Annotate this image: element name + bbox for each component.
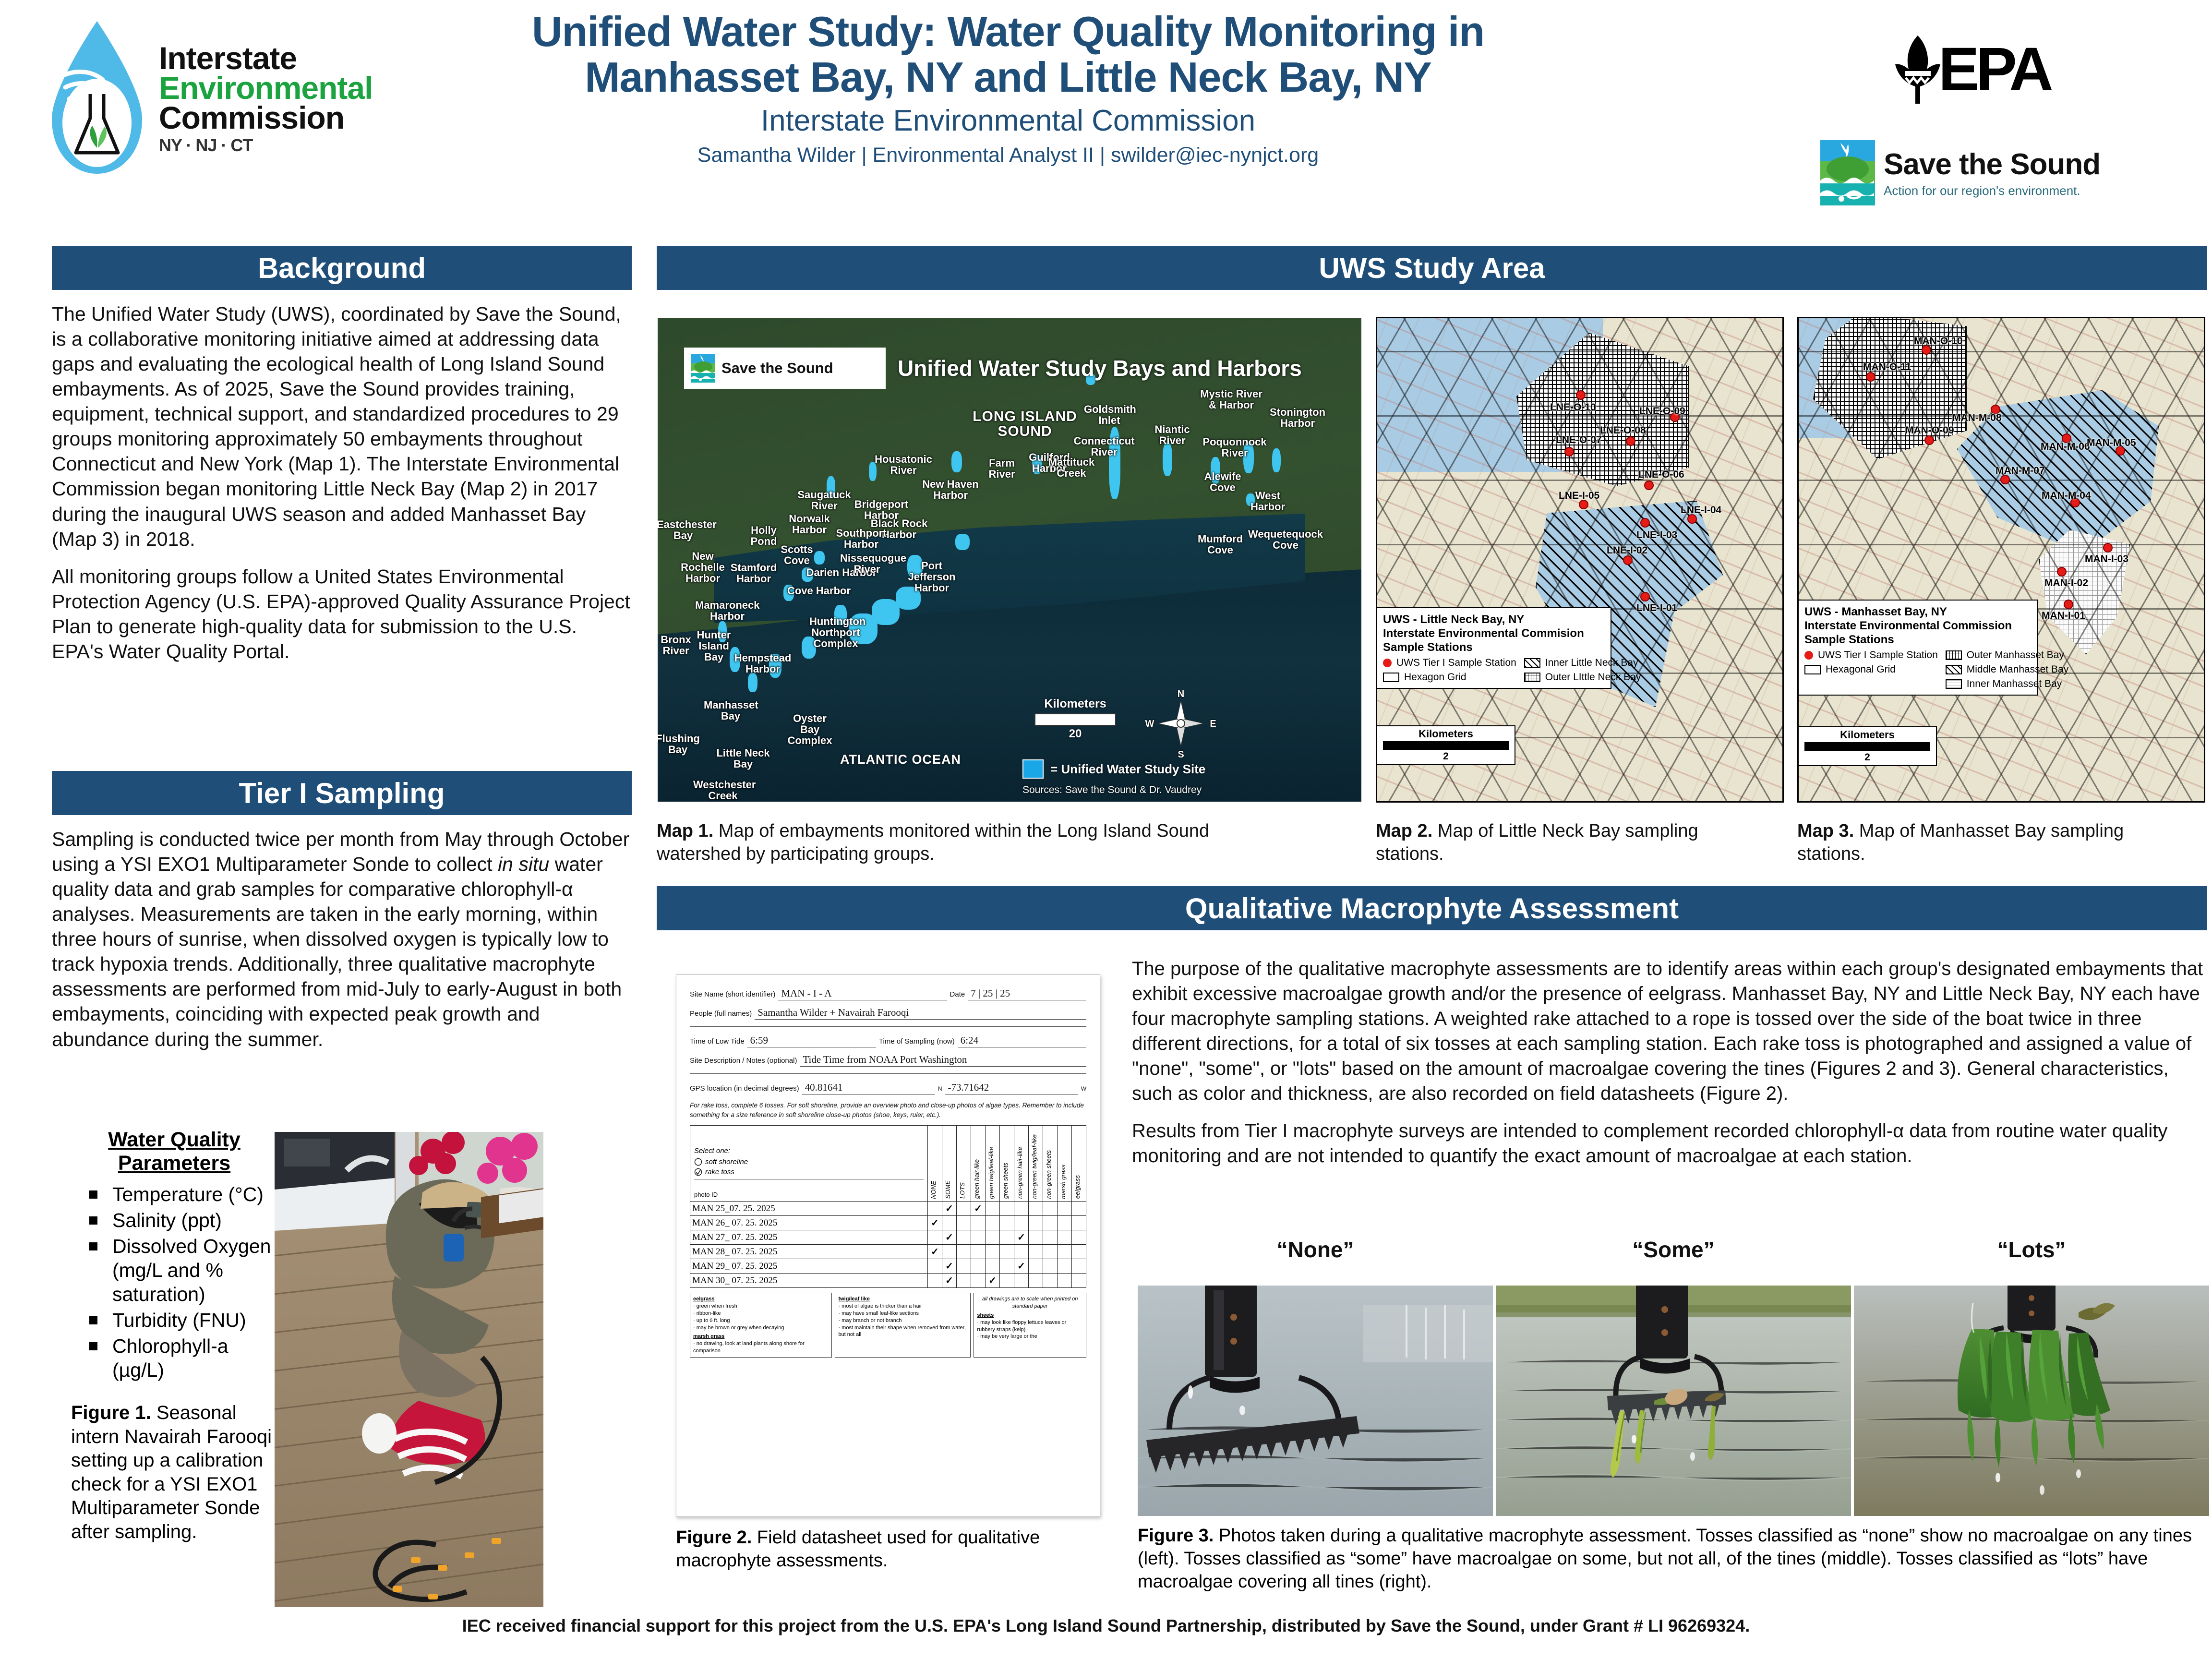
ds-photo-id: MAN 25_07. 25. 2025 — [690, 1202, 928, 1216]
ds-guide-twig-items: · most of algae is thicker than a hair ·… — [838, 1303, 967, 1338]
ds-check-cell[interactable] — [971, 1216, 986, 1230]
map3-station-dot — [2057, 567, 2067, 577]
map2-scale-title: Kilometers — [1377, 728, 1515, 740]
map1-label: Mumford Cove — [1191, 534, 1249, 556]
list-item: Temperature (°C) — [71, 1182, 277, 1206]
map2-station-dot — [1576, 390, 1586, 400]
ds-gps-label: GPS location (in decimal degrees) — [690, 1084, 799, 1093]
checkmark-icon: ✓ — [945, 1203, 953, 1214]
poster-root: Interstate Environmental Commission NY ·… — [0, 0, 2212, 1659]
ds-check-cell[interactable] — [1000, 1259, 1014, 1274]
map3-station-label: MAN-M-08 — [1952, 412, 2002, 424]
map3-legend-title-2: Interstate Environmental Commission — [1804, 619, 2031, 633]
ds-col-green-sheets: green sheets — [1000, 1126, 1014, 1202]
ds-col-green-twig: green twig/leaf-like — [986, 1126, 1000, 1202]
map3-station-label: MAN-M-07 — [1996, 465, 2045, 477]
ds-photo-id: MAN 26_ 07. 25. 2025 — [690, 1216, 928, 1230]
map3-legend: UWS - Manhasset Bay, NY Interstate Envir… — [1798, 600, 2038, 696]
map2-station-dot — [1644, 481, 1654, 490]
ds-check-cell[interactable] — [971, 1245, 986, 1259]
ds-instructions: For rake toss, complete 6 tosses. For so… — [690, 1101, 1086, 1119]
epa-logo-text: EPA — [1938, 39, 2050, 100]
radio-unchecked-icon[interactable] — [694, 1158, 702, 1166]
ds-check-cell[interactable] — [1029, 1245, 1043, 1259]
map2-station-dot — [1640, 592, 1650, 601]
list-item: Dissolved Oxygen (mg/L and % saturation) — [71, 1234, 277, 1306]
figure2-caption: Figure 2. Field datasheet used for quali… — [676, 1527, 1060, 1573]
map1-site-marker — [748, 673, 757, 692]
map3-legend-item: Outer Manhasset Bay — [1967, 649, 2064, 661]
ds-check-cell[interactable] — [986, 1245, 1000, 1259]
ds-check-cell[interactable] — [957, 1202, 971, 1216]
ds-photo-id: MAN 27_ 07. 25. 2025 — [690, 1230, 928, 1245]
map3-legend-middle-key — [1946, 665, 1962, 674]
ds-gps-lon: -73.71642 — [945, 1082, 1078, 1094]
ds-site-desc-value: Tide Time from NOAA Port Washington — [800, 1054, 1086, 1067]
map1-site-marker — [1163, 443, 1172, 476]
map1-banner-logo-text: Save the Sound — [721, 360, 833, 377]
ds-site-desc-label: Site Description / Notes (optional) — [690, 1057, 797, 1065]
ds-check-cell[interactable]: ✓ — [942, 1274, 957, 1288]
map2-legend-inner-key — [1524, 658, 1540, 668]
poster-title-line1: Unified Water Study: Water Quality Monit… — [379, 9, 1637, 54]
ds-low-tide-label: Time of Low Tide — [690, 1037, 745, 1046]
ds-check-cell[interactable] — [1014, 1202, 1029, 1216]
ds-guide-scale-note: all drawings are to scale when printed o… — [977, 1296, 1083, 1310]
map2-legend-item: Hexagon Grid — [1404, 672, 1467, 683]
map2-station-label: LNE-O-07 — [1556, 434, 1602, 446]
ds-check-cell[interactable] — [1043, 1274, 1058, 1288]
ds-observation-table: Select one: soft shoreline rake toss pho… — [690, 1125, 1086, 1288]
ds-check-cell[interactable]: ✓ — [942, 1259, 957, 1274]
map1-label: Housatonic River — [871, 454, 936, 476]
ds-check-cell[interactable] — [957, 1274, 971, 1288]
map2-station-dot — [1640, 518, 1650, 528]
checkmark-icon: ✓ — [1017, 1261, 1025, 1272]
map1-label: New Rochelle Harbor — [669, 551, 736, 584]
ds-check-cell[interactable] — [1029, 1202, 1043, 1216]
title-block: Unified Water Study: Water Quality Monit… — [379, 9, 1637, 167]
ds-check-cell[interactable]: ✓ — [942, 1230, 957, 1245]
map1-label: Mamaroneck Harbor — [695, 600, 759, 622]
ds-guide-twig: twig/leaf like · most of algae is thicke… — [835, 1293, 971, 1358]
map2-scale-rule — [1383, 741, 1509, 750]
ds-check-cell[interactable]: ✓ — [1014, 1259, 1029, 1274]
table-row: MAN 30_ 07. 25. 2025✓✓ — [690, 1274, 1086, 1288]
map3-manhasset-bay: MAN-O-10 MAN-O-11 MAN-O-09 MAN-M-08 MAN-… — [1797, 317, 2205, 803]
ds-divider-2 — [690, 1073, 1086, 1074]
ds-select-one-label: Select one: — [694, 1147, 924, 1155]
ds-check-cell[interactable] — [1029, 1259, 1043, 1274]
map2-scale-bar: Kilometers 2 — [1376, 725, 1515, 765]
figure3-caption: Figure 3. Photos taken during a qualitat… — [1138, 1525, 2211, 1594]
iec-states: NY · NJ · CT — [159, 137, 373, 154]
map2-station-label: LNE-I-05 — [1559, 490, 1599, 502]
ds-check-cell[interactable] — [1072, 1230, 1086, 1245]
map2-station-dot — [1626, 436, 1635, 446]
ds-algae-guide: eelgrass · green when fresh · ribbon-lik… — [690, 1293, 1086, 1358]
map2-legend-title-2: Interstate Environmental Commision — [1383, 627, 1605, 641]
figure3-caption-text: Photos taken during a qualitative macrop… — [1138, 1526, 2192, 1592]
map1-label: Cove Harbor — [781, 586, 857, 597]
ds-check-cell[interactable] — [971, 1230, 986, 1245]
map1-legend: = Unified Water Study Site — [1022, 759, 1205, 779]
map2-legend: UWS - Little Neck Bay, NY Interstate Env… — [1376, 607, 1611, 689]
ds-photo-id: MAN 29_ 07. 25. 2025 — [690, 1259, 928, 1274]
map2-station-label: LNE-O-10 — [1550, 402, 1596, 413]
map3-legend-inner-key — [1946, 679, 1962, 689]
ds-check-cell[interactable] — [971, 1259, 986, 1274]
map3-station-label: MAN-O-11 — [1863, 361, 1911, 373]
list-item: Salinity (ppt) — [71, 1208, 277, 1232]
map1-site-marker — [872, 599, 900, 625]
map1-caption-label: Map 1. — [657, 821, 713, 841]
map1-label: New Haven Harbor — [918, 479, 983, 501]
ds-col-some: SOME — [942, 1126, 957, 1202]
ds-check-cell[interactable] — [1043, 1202, 1058, 1216]
ds-check-cell[interactable] — [1043, 1245, 1058, 1259]
map3-station-dot — [2064, 600, 2073, 609]
map2-legend-hex-key — [1383, 673, 1399, 682]
map3-legend-title-3: Sample Stations — [1804, 633, 2031, 647]
map1-label: Port Jefferson Harbor — [901, 561, 963, 594]
map1-scale-value: 20 — [1030, 727, 1121, 741]
map2-legend-title-1: UWS - Little Neck Bay, NY — [1383, 613, 1605, 627]
map3-station-label: MAN-O-09 — [1905, 425, 1954, 436]
map1-label: Eastchester Bay — [657, 519, 709, 541]
ds-guide-sheets-title: sheets — [977, 1312, 1083, 1319]
ds-check-cell[interactable] — [1058, 1245, 1072, 1259]
ds-check-cell[interactable] — [986, 1202, 1000, 1216]
ds-check-cell[interactable] — [1058, 1216, 1072, 1230]
map1-label: Hempstead Harbor — [733, 653, 793, 675]
funding-footer: IEC received financial support for this … — [0, 1616, 2212, 1636]
ds-check-cell[interactable] — [1072, 1216, 1086, 1230]
poster-organization: Interstate Environmental Commission — [379, 104, 1637, 138]
water-drop-flask-icon — [48, 19, 146, 178]
ds-col-nongreen-twig: non-green twig/leaf-like — [1029, 1126, 1043, 1202]
water-quality-parameters-block: Water Quality Parameters Temperature (°C… — [71, 1128, 277, 1544]
table-row: MAN 27_ 07. 25. 2025✓✓ — [690, 1230, 1086, 1245]
map3-caption-label: Map 3. — [1797, 821, 1854, 841]
ds-guide-sheets-items: · may look like floppy lettuce leaves or… — [977, 1319, 1083, 1341]
map2-scale-value: 2 — [1377, 751, 1515, 762]
table-row: MAN 29_ 07. 25. 2025✓✓ — [690, 1259, 1086, 1274]
save-the-sound-mark-icon — [691, 353, 716, 383]
ds-check-cell[interactable] — [928, 1274, 942, 1288]
map1-label: Huntington Northport Complex — [809, 616, 862, 649]
map2-caption: Map 2. Map of Little Neck Bay sampling s… — [1376, 820, 1760, 866]
list-item: Chlorophyll-a (µg/L) — [71, 1334, 277, 1382]
map3-station-label: MAN-I-02 — [2044, 577, 2088, 589]
checkmark-icon: ✓ — [1017, 1232, 1025, 1243]
map2-station-label: LNE-I-03 — [1636, 529, 1677, 541]
ds-option-soft-shoreline: soft shoreline — [705, 1158, 748, 1166]
figure1-caption: Figure 1. Seasonal intern Navairah Faroo… — [71, 1401, 277, 1544]
ds-option-rake-toss: rake toss — [705, 1168, 734, 1176]
map1-scale-bar: Kilometers 20 — [1030, 697, 1121, 741]
ds-check-cell[interactable] — [1043, 1230, 1058, 1245]
ds-check-cell[interactable] — [928, 1202, 942, 1216]
map3-station-label: MAN-I-01 — [2042, 610, 2085, 622]
ds-date-value: 7 | 25 | 25 — [968, 987, 1086, 1000]
map1-long-island-sound: Save the Sound Unified Water Study Bays … — [657, 317, 1362, 803]
background-paragraph-2: All monitoring groups follow a United St… — [52, 564, 632, 664]
map2-station-label: LNE-O-08 — [1600, 425, 1646, 436]
ds-gps-w: W — [1081, 1085, 1086, 1092]
section-header-study-area: UWS Study Area — [657, 246, 2207, 290]
map3-legend-title-1: UWS - Manhasset Bay, NY — [1804, 605, 2031, 619]
save-the-sound-logo: Save the Sound Action for our region's e… — [1819, 134, 2155, 211]
ds-photo-id: MAN 28_ 07. 25. 2025 — [690, 1245, 928, 1259]
ds-check-cell[interactable] — [986, 1259, 1000, 1274]
map3-scale-bar: Kilometers 2 — [1798, 726, 1937, 766]
ds-check-cell[interactable]: ✓ — [942, 1202, 957, 1216]
ds-guide-marsh-items: · no drawing, look at land plants along … — [693, 1340, 829, 1355]
poster-title-line2: Manhasset Bay, NY and Little Neck Bay, N… — [379, 54, 1637, 100]
figure3-label: Figure 3. — [1138, 1526, 1214, 1546]
ds-check-cell[interactable] — [1014, 1245, 1029, 1259]
ds-check-cell[interactable]: ✓ — [928, 1245, 942, 1259]
map3-scale-rule — [1804, 742, 1930, 751]
map3-legend-outer-key — [1946, 650, 1962, 660]
ds-check-cell[interactable] — [957, 1259, 971, 1274]
map3-legend-hex-key — [1804, 665, 1821, 674]
map1-caption: Map 1. Map of embayments monitored withi… — [657, 820, 1295, 866]
map1-site-marker — [955, 534, 970, 550]
map1-label: Manhasset Bay — [704, 700, 757, 722]
iec-word-environmental: Environmental — [159, 73, 373, 103]
ds-check-cell[interactable] — [1000, 1245, 1014, 1259]
ds-guide-eelgrass: eelgrass · green when fresh · ribbon-lik… — [690, 1293, 832, 1358]
map1-label: Oyster Bay Complex — [783, 713, 836, 746]
map2-little-neck-bay: LNE-O-10 LNE-O-09 LNE-O-08 LNE-O-07 LNE-… — [1376, 317, 1784, 803]
ds-guide-twig-title: twig/leaf like — [838, 1296, 869, 1302]
map1-label: Stonington Harbor — [1262, 407, 1334, 429]
ds-check-cell[interactable] — [1029, 1274, 1043, 1288]
ds-check-cell[interactable] — [942, 1216, 957, 1230]
ds-sampling-time-label: Time of Sampling (now) — [879, 1037, 955, 1046]
map2-legend-title-3: Sample Stations — [1383, 641, 1605, 655]
ds-photo-id: MAN 30_ 07. 25. 2025 — [690, 1274, 928, 1288]
map1-label: Little Neck Bay — [713, 748, 773, 770]
map1-label: Saugatuck River — [794, 490, 854, 512]
save-the-sound-tagline: Action for our region's environment. — [1884, 183, 2100, 198]
map1-label-atlantic-ocean: ATLANTIC OCEAN — [840, 752, 961, 767]
map3-station-label: MAN-O-10 — [1914, 336, 1963, 347]
svg-text:N: N — [1178, 689, 1184, 699]
list-item: Turbidity (FNU) — [71, 1308, 277, 1332]
map1-label: Flushing Bay — [657, 733, 700, 756]
checkmark-icon: ✓ — [931, 1247, 939, 1257]
ds-check-cell[interactable] — [928, 1230, 942, 1245]
ds-check-cell[interactable] — [1014, 1216, 1029, 1230]
ds-check-cell[interactable] — [986, 1216, 1000, 1230]
ds-check-cell[interactable] — [1029, 1230, 1043, 1245]
map3-scale-title: Kilometers — [1799, 729, 1936, 741]
map1-label: Westchester Creek — [693, 780, 753, 802]
figure3-photo-row — [1138, 1286, 2209, 1516]
map3-caption: Map 3. Map of Manhasset Bay sampling sta… — [1797, 820, 2181, 866]
map1-label: Norwalk Harbor — [781, 514, 838, 536]
ds-check-cell[interactable] — [1029, 1216, 1043, 1230]
ds-check-cell[interactable] — [1072, 1274, 1086, 1288]
ds-gps-n: N — [938, 1085, 942, 1092]
checkmark-icon: ✓ — [945, 1261, 953, 1272]
map3-station-dot — [1866, 372, 1875, 382]
ds-sampling-time-value: 6:24 — [958, 1034, 1086, 1047]
ds-check-cell[interactable] — [1043, 1216, 1058, 1230]
map1-label: Bronx River — [657, 635, 695, 657]
figure2-field-datasheet: Site Name (short identifier) MAN - I - A… — [676, 974, 1100, 1517]
ds-guide-marsh-title: marsh grass — [693, 1333, 829, 1340]
ds-photo-id-header: photo ID — [694, 1191, 924, 1198]
map1-label: West Harbor — [1241, 491, 1294, 513]
photo-label-some: “Some” — [1496, 1237, 1851, 1262]
iec-word-commission: Commission — [159, 103, 373, 132]
ds-guide-sheets: all drawings are to scale when printed o… — [974, 1293, 1086, 1358]
map3-scale-value: 2 — [1799, 752, 1936, 763]
map2-caption-label: Map 2. — [1376, 821, 1432, 841]
ds-check-cell[interactable] — [957, 1230, 971, 1245]
checkmark-icon: ✓ — [945, 1232, 953, 1243]
ds-check-cell[interactable] — [1058, 1202, 1072, 1216]
ds-select-cell: Select one: soft shoreline rake toss pho… — [690, 1126, 928, 1202]
map3-station-dot — [1924, 435, 1934, 445]
ds-people-value: Samantha Wilder + Navairah Farooqi — [755, 1007, 1086, 1020]
section-header-macrophyte: Qualitative Macrophyte Assessment — [657, 886, 2207, 930]
map1-caption-text: Map of embayments monitored within the L… — [657, 821, 1209, 864]
ds-site-name-value: MAN - I - A — [778, 987, 947, 1000]
checkmark-icon: ✓ — [945, 1275, 953, 1286]
ds-check-cell[interactable]: ✓ — [986, 1274, 1000, 1288]
ds-check-cell[interactable]: ✓ — [971, 1202, 986, 1216]
map1-label: Hunter Island Bay — [693, 630, 734, 663]
photo-rake-some — [1496, 1286, 1851, 1516]
map1-site-marker — [1272, 448, 1281, 472]
ds-check-cell[interactable] — [1058, 1259, 1072, 1274]
ds-check-cell[interactable] — [971, 1274, 986, 1288]
map1-scale-title: Kilometers — [1030, 697, 1121, 711]
macrophyte-paragraph-2: Results from Tier I macrophyte surveys a… — [1132, 1118, 2210, 1168]
photo-rake-lots — [1854, 1286, 2209, 1516]
map1-site-marker — [951, 451, 962, 472]
map3-legend-item: Hexagonal Grid — [1826, 664, 1896, 675]
tier1-body: Sampling is conducted twice per month fr… — [52, 827, 632, 1052]
map1-label: Goldsmith Inlet — [1084, 404, 1135, 426]
map2-legend-station-key — [1383, 659, 1392, 667]
radio-checked-icon[interactable] — [694, 1168, 702, 1176]
poster-header: Interstate Environmental Commission NY ·… — [0, 0, 2212, 240]
map1-legend-swatch — [1022, 759, 1044, 779]
ds-col-eelgrass: eelgrass — [1072, 1126, 1086, 1202]
ds-check-cell[interactable]: ✓ — [928, 1216, 942, 1230]
ds-guide-eelgrass-title: eelgrass — [693, 1296, 715, 1302]
ds-col-green-hair: green hair-like — [971, 1126, 986, 1202]
ds-check-cell[interactable] — [928, 1259, 942, 1274]
map1-label: Niantic River — [1143, 424, 1201, 446]
map1-label: Southport Harbor — [831, 528, 891, 550]
map2-station-dot — [1564, 447, 1574, 457]
ds-col-none: NONE — [928, 1126, 942, 1202]
map1-sources: Sources: Save the Sound & Dr. Vaudrey — [1022, 784, 1202, 796]
map1-label: Wequetequock Cove — [1247, 529, 1324, 551]
map1-scale-rule — [1034, 713, 1116, 726]
map3-station-label: MAN-I-03 — [2085, 553, 2128, 565]
map3-station-label: MAN-M-04 — [2042, 490, 2091, 502]
map1-label: Holly Pond — [742, 525, 785, 547]
map1-label: Nissequogue River — [840, 553, 894, 575]
photo-label-none: “None” — [1138, 1237, 1493, 1262]
ds-check-cell[interactable] — [1072, 1245, 1086, 1259]
ds-check-cell[interactable] — [1058, 1274, 1072, 1288]
ds-col-nongreen-hair: non-green hair-like — [1014, 1126, 1029, 1202]
photo-label-lots: “Lots” — [1854, 1237, 2209, 1262]
ds-check-cell[interactable] — [1014, 1274, 1029, 1288]
ds-date-label: Date — [950, 990, 965, 998]
map2-station-dot — [1623, 555, 1633, 565]
ds-check-cell[interactable]: ✓ — [1014, 1230, 1029, 1245]
map2-station-label: LNE-I-01 — [1636, 602, 1677, 614]
background-body: The Unified Water Study (UWS), coordinat… — [52, 301, 632, 664]
map3-legend-item: UWS Tier I Sample Station — [1818, 649, 1938, 661]
figure2-label: Figure 2. — [676, 1527, 752, 1548]
ds-check-cell[interactable] — [957, 1216, 971, 1230]
map2-station-label: LNE-O-06 — [1638, 469, 1684, 481]
ds-check-cell[interactable] — [1043, 1259, 1058, 1274]
svg-text:E: E — [1210, 719, 1216, 729]
map3-station-label: MAN-M-06 — [2041, 441, 2090, 453]
ds-check-cell[interactable] — [942, 1245, 957, 1259]
water-quality-heading: Water Quality Parameters — [71, 1128, 277, 1176]
map2-station-label: LNE-O-09 — [1639, 406, 1685, 417]
map1-label: Poquonnock River — [1196, 437, 1273, 459]
map1-save-the-sound-badge: Save the Sound — [684, 348, 886, 389]
figure1-label: Figure 1. — [71, 1402, 151, 1423]
figure1-photo — [275, 1132, 543, 1607]
ds-check-cell[interactable] — [1058, 1230, 1072, 1245]
map1-label: Alewife Cove — [1196, 471, 1249, 493]
ds-check-cell[interactable] — [1000, 1202, 1014, 1216]
epa-logo: EPA — [1891, 24, 2107, 115]
ds-check-cell[interactable] — [986, 1230, 1000, 1245]
compass-rose-icon: N S E W — [1145, 687, 1217, 759]
epa-seal-icon — [1891, 34, 1944, 106]
ds-site-name-label: Site Name (short identifier) — [690, 990, 775, 998]
ds-check-cell[interactable] — [1000, 1216, 1014, 1230]
ds-col-nongreen-sheets: non-green sheets — [1043, 1126, 1058, 1202]
svg-text:S: S — [1178, 749, 1184, 759]
save-the-sound-mark-icon — [1819, 139, 1876, 206]
map1-label: Mattituck Creek — [1047, 457, 1095, 479]
ds-divider-1 — [690, 1026, 1086, 1027]
svg-text:W: W — [1145, 719, 1154, 729]
map1-banner-title: Unified Water Study Bays and Harbors — [898, 355, 1302, 381]
macrophyte-paragraph-1: The purpose of the qualitative macrophyt… — [1132, 956, 2210, 1106]
ds-check-cell[interactable] — [1000, 1230, 1014, 1245]
map1-label: Farm River — [980, 458, 1023, 480]
map1-legend-text: = Unified Water Study Site — [1050, 762, 1205, 777]
water-quality-parameter-list: Temperature (°C) Salinity (ppt) Dissolve… — [71, 1182, 277, 1382]
ds-check-cell[interactable] — [1000, 1274, 1014, 1288]
table-row: MAN 26_ 07. 25. 2025✓ — [690, 1216, 1086, 1230]
ds-check-cell[interactable] — [957, 1245, 971, 1259]
ds-check-cell[interactable] — [1072, 1259, 1086, 1274]
map3-station-dot — [2103, 543, 2113, 553]
map2-legend-outer-key — [1524, 673, 1540, 682]
ds-check-cell[interactable] — [1072, 1202, 1086, 1216]
ds-guide-eelgrass-items: · green when fresh · ribbon-like · up to… — [693, 1303, 829, 1331]
